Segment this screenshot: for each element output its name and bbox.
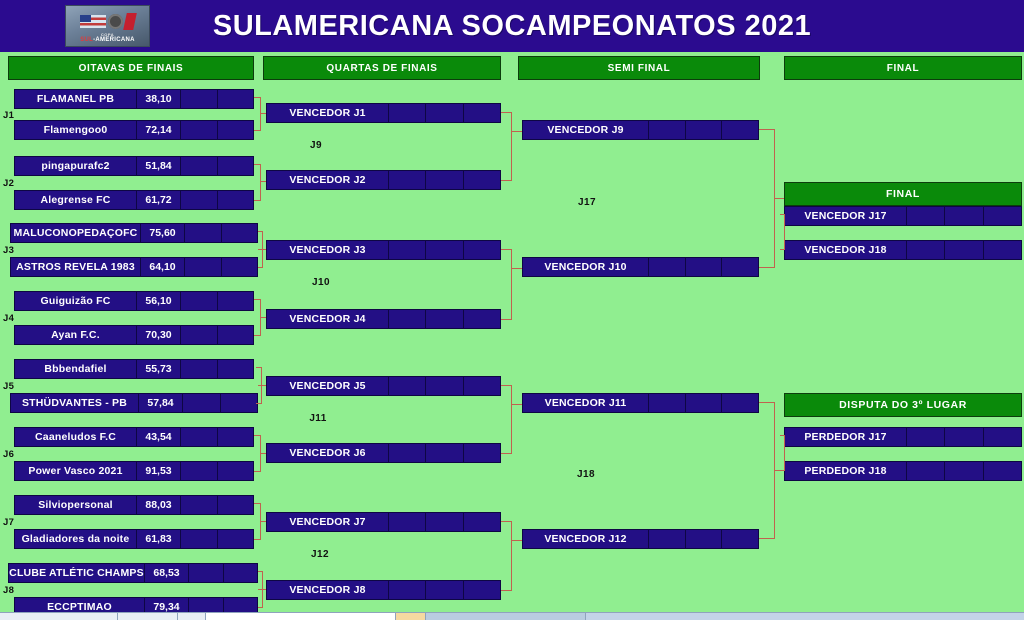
team-name: FLAMANEL PB xyxy=(15,90,137,108)
team-name: Gladiadores da noite xyxy=(15,530,137,548)
sheet-tab[interactable] xyxy=(178,613,206,620)
match-code-j12: J12 xyxy=(266,549,374,560)
empty-cell xyxy=(222,224,258,242)
empty-cell xyxy=(945,428,983,446)
team-name: Alegrense FC xyxy=(15,191,137,209)
final-team2[interactable]: VENCEDOR J18 xyxy=(784,240,1022,260)
team-name: Guiguizão FC xyxy=(15,292,137,310)
sheet-tab[interactable] xyxy=(426,613,586,620)
r16-match-j8-team1[interactable]: CLUBE ATLÉTIC CHAMPS 68,53 xyxy=(8,563,258,583)
sheet-tab-highlight[interactable] xyxy=(396,613,426,620)
r16-match-j7-team2[interactable]: Gladiadores da noite 61,83 xyxy=(14,529,254,549)
empty-cell xyxy=(984,428,1021,446)
team-name: PERDEDOR J17 xyxy=(785,428,907,446)
empty-cell xyxy=(181,292,218,310)
r16-match-j2-team1[interactable]: pingapurafc2 51,84 xyxy=(14,156,254,176)
empty-cell xyxy=(426,171,463,189)
empty-cell xyxy=(426,310,463,328)
qf-match-j12-team2[interactable]: VENCEDOR J8 xyxy=(266,580,501,600)
r16-match-j3-team1[interactable]: MALUCONOPEDAÇOFC 75,60 xyxy=(10,223,258,243)
match-code-j3: J3 xyxy=(3,245,14,256)
team-name: VENCEDOR J6 xyxy=(267,444,389,462)
empty-cell xyxy=(722,394,758,412)
team-name: VENCEDOR J8 xyxy=(267,581,389,599)
bracket-page: COPA SUL-AMERICANA SULAMERICANA SOCAMPEO… xyxy=(0,0,1024,620)
connector-j8-out xyxy=(258,589,266,590)
team-name: VENCEDOR J1 xyxy=(267,104,389,122)
empty-cell xyxy=(945,241,983,259)
stage-header-semi: SEMI FINAL xyxy=(518,56,760,80)
empty-cell xyxy=(185,224,222,242)
team-score: 70,30 xyxy=(137,326,181,344)
connector-j10 xyxy=(501,249,512,320)
empty-cell xyxy=(389,581,426,599)
team-name: VENCEDOR J5 xyxy=(267,377,389,395)
empty-cell xyxy=(686,394,723,412)
qf-match-j9-team2[interactable]: VENCEDOR J2 xyxy=(266,170,501,190)
r16-match-j4-team2[interactable]: Ayan F.C. 70,30 xyxy=(14,325,254,345)
match-code-j5: J5 xyxy=(3,381,14,392)
r16-match-j3-team2[interactable]: ASTROS REVELA 1983 64,10 xyxy=(10,257,258,277)
team-score: 61,83 xyxy=(137,530,181,548)
empty-cell xyxy=(389,241,426,259)
empty-cell xyxy=(907,207,945,225)
team-score: 38,10 xyxy=(137,90,181,108)
empty-cell xyxy=(686,121,723,139)
match-code-j11: J11 xyxy=(266,413,370,424)
r16-match-j4-team1[interactable]: Guiguizão FC 56,10 xyxy=(14,291,254,311)
empty-cell xyxy=(464,377,500,395)
r16-match-j6-team1[interactable]: Caaneludos F.C 43,54 xyxy=(14,427,254,447)
empty-cell xyxy=(426,104,463,122)
team-score: 57,84 xyxy=(139,394,183,412)
team-name: pingapurafc2 xyxy=(15,157,137,175)
qf-match-j12-team1[interactable]: VENCEDOR J7 xyxy=(266,512,501,532)
team-name: Caaneludos F.C xyxy=(15,428,137,446)
empty-cell xyxy=(181,326,218,344)
team-score: 75,60 xyxy=(141,224,185,242)
empty-cell xyxy=(218,121,254,139)
empty-cell xyxy=(389,377,426,395)
empty-cell xyxy=(722,258,758,276)
empty-cell xyxy=(181,530,218,548)
empty-cell xyxy=(464,513,500,531)
empty-cell xyxy=(221,394,258,412)
empty-cell xyxy=(649,121,686,139)
third-place-team2[interactable]: PERDEDOR J18 xyxy=(784,461,1022,481)
r16-match-j7-team1[interactable]: Silviopersonal 88,03 xyxy=(14,495,254,515)
empty-cell xyxy=(649,530,686,548)
final-team1[interactable]: VENCEDOR J17 xyxy=(784,206,1022,226)
connector-j4 xyxy=(254,299,261,336)
connector-j1 xyxy=(254,97,261,131)
team-score: 72,14 xyxy=(137,121,181,139)
team-score: 55,73 xyxy=(137,360,181,378)
sf-match-j18-team1[interactable]: VENCEDOR J11 xyxy=(522,393,759,413)
empty-cell xyxy=(464,581,500,599)
team-name: PERDEDOR J18 xyxy=(785,462,907,480)
empty-cell xyxy=(185,258,222,276)
qf-match-j9-team1[interactable]: VENCEDOR J1 xyxy=(266,103,501,123)
team-name: Flamengoo0 xyxy=(15,121,137,139)
empty-cell xyxy=(389,513,426,531)
stage-header-oitavas: OITAVAS DE FINAIS xyxy=(8,56,254,80)
empty-cell xyxy=(389,444,426,462)
empty-cell xyxy=(426,377,463,395)
empty-cell xyxy=(426,241,463,259)
empty-cell xyxy=(181,462,218,480)
empty-cell xyxy=(984,462,1021,480)
empty-cell xyxy=(649,258,686,276)
team-name: VENCEDOR J18 xyxy=(785,241,907,259)
team-name: Bbbendafiel xyxy=(15,360,137,378)
r16-match-j5-team2[interactable]: STHÜDVANTES - PB 57,84 xyxy=(10,393,258,413)
match-code-j17: J17 xyxy=(522,197,652,208)
team-score: 91,53 xyxy=(137,462,181,480)
team-score: 43,54 xyxy=(137,428,181,446)
sheet-tab[interactable] xyxy=(0,613,118,620)
team-name: VENCEDOR J9 xyxy=(523,121,649,139)
empty-cell xyxy=(945,207,983,225)
empty-cell xyxy=(389,310,426,328)
empty-cell xyxy=(181,360,218,378)
sheet-tab-strip[interactable] xyxy=(0,612,1024,620)
match-code-j10: J10 xyxy=(266,277,376,288)
team-name: VENCEDOR J17 xyxy=(785,207,907,225)
empty-cell xyxy=(389,171,426,189)
connector-j9 xyxy=(501,112,512,181)
connector-j3-out xyxy=(258,249,266,250)
empty-cell xyxy=(907,241,945,259)
empty-cell xyxy=(218,496,254,514)
qf-match-j10-team1[interactable]: VENCEDOR J3 xyxy=(266,240,501,260)
empty-cell xyxy=(464,241,500,259)
empty-cell xyxy=(222,258,258,276)
connector-final xyxy=(780,214,785,250)
sf-match-j17-team2[interactable]: VENCEDOR J10 xyxy=(522,257,759,277)
empty-cell xyxy=(181,157,218,175)
empty-cell xyxy=(686,530,723,548)
r16-match-j6-team2[interactable]: Power Vasco 2021 91,53 xyxy=(14,461,254,481)
team-score: 88,03 xyxy=(137,496,181,514)
team-name: VENCEDOR J10 xyxy=(523,258,649,276)
sheet-tab-active[interactable] xyxy=(206,613,396,620)
stage-header-quartas: QUARTAS DE FINAIS xyxy=(263,56,501,80)
match-code-j9: J9 xyxy=(266,140,366,151)
empty-cell xyxy=(218,157,254,175)
connector-j2 xyxy=(254,164,261,201)
match-code-j18: J18 xyxy=(522,469,650,480)
sheet-tab[interactable] xyxy=(118,613,178,620)
sf-match-j17-team1[interactable]: VENCEDOR J9 xyxy=(522,120,759,140)
empty-cell xyxy=(945,462,983,480)
empty-cell xyxy=(218,326,254,344)
third-place-team1[interactable]: PERDEDOR J17 xyxy=(784,427,1022,447)
empty-cell xyxy=(722,121,758,139)
empty-cell xyxy=(464,171,500,189)
empty-cell xyxy=(181,90,218,108)
qf-match-j11-team2[interactable]: VENCEDOR J6 xyxy=(266,443,501,463)
r16-match-j1-team1[interactable]: FLAMANEL PB 38,10 xyxy=(14,89,254,109)
team-name: VENCEDOR J3 xyxy=(267,241,389,259)
connector-j11 xyxy=(501,385,512,454)
connector-j18 xyxy=(759,402,775,539)
empty-cell xyxy=(686,258,723,276)
empty-cell xyxy=(181,121,218,139)
stage-header-final: FINAL xyxy=(784,56,1022,80)
match-code-j8: J8 xyxy=(3,585,14,596)
empty-cell xyxy=(464,104,500,122)
r16-match-j2-team2[interactable]: Alegrense FC 61,72 xyxy=(14,190,254,210)
team-name: MALUCONOPEDAÇOFC xyxy=(11,224,141,242)
empty-cell xyxy=(181,496,218,514)
team-name: Ayan F.C. xyxy=(15,326,137,344)
connector-j12 xyxy=(501,521,512,591)
empty-cell xyxy=(218,530,254,548)
match-code-j2: J2 xyxy=(3,178,14,189)
empty-cell xyxy=(722,530,758,548)
empty-cell xyxy=(183,394,221,412)
empty-cell xyxy=(464,310,500,328)
team-score: 64,10 xyxy=(141,258,185,276)
app-header: COPA SUL-AMERICANA SULAMERICANA SOCAMPEO… xyxy=(0,0,1024,52)
team-name: VENCEDOR J4 xyxy=(267,310,389,328)
sf-match-j18-team2[interactable]: VENCEDOR J12 xyxy=(522,529,759,549)
team-name: VENCEDOR J7 xyxy=(267,513,389,531)
empty-cell xyxy=(389,104,426,122)
qf-match-j10-team2[interactable]: VENCEDOR J4 xyxy=(266,309,501,329)
r16-match-j5-team1[interactable]: Bbbendafiel 55,73 xyxy=(14,359,254,379)
empty-cell xyxy=(984,207,1021,225)
match-code-j4: J4 xyxy=(3,313,14,324)
team-score: 61,72 xyxy=(137,191,181,209)
empty-cell xyxy=(426,581,463,599)
team-name: VENCEDOR J11 xyxy=(523,394,649,412)
team-score: 68,53 xyxy=(145,564,189,582)
match-code-j6: J6 xyxy=(3,449,14,460)
empty-cell xyxy=(218,462,254,480)
connector-j6 xyxy=(254,435,261,472)
empty-cell xyxy=(181,191,218,209)
match-code-j1: J1 xyxy=(3,110,14,121)
third-place-panel-title: DISPUTA DO 3º LUGAR xyxy=(784,393,1022,417)
empty-cell xyxy=(907,428,945,446)
empty-cell xyxy=(218,191,254,209)
page-title: SULAMERICANA SOCAMPEONATOS 2021 xyxy=(0,0,1024,52)
team-score: 56,10 xyxy=(137,292,181,310)
connector-j17 xyxy=(759,129,775,268)
team-name: VENCEDOR J12 xyxy=(523,530,649,548)
empty-cell xyxy=(224,564,258,582)
team-name: VENCEDOR J2 xyxy=(267,171,389,189)
team-name: ASTROS REVELA 1983 xyxy=(11,258,141,276)
empty-cell xyxy=(189,564,224,582)
team-score: 51,84 xyxy=(137,157,181,175)
empty-cell xyxy=(218,90,254,108)
empty-cell xyxy=(464,444,500,462)
empty-cell xyxy=(181,428,218,446)
match-code-j7: J7 xyxy=(3,517,14,528)
team-name: Silviopersonal xyxy=(15,496,137,514)
empty-cell xyxy=(907,462,945,480)
empty-cell xyxy=(426,513,463,531)
team-name: Power Vasco 2021 xyxy=(15,462,137,480)
team-name: CLUBE ATLÉTIC CHAMPS xyxy=(9,564,145,582)
empty-cell xyxy=(218,292,254,310)
empty-cell xyxy=(218,428,254,446)
final-panel-title: FINAL xyxy=(784,182,1022,206)
qf-match-j11-team1[interactable]: VENCEDOR J5 xyxy=(266,376,501,396)
empty-cell xyxy=(218,360,254,378)
empty-cell xyxy=(984,241,1021,259)
team-name: STHÜDVANTES - PB xyxy=(11,394,139,412)
connector-j7 xyxy=(254,503,261,540)
empty-cell xyxy=(426,444,463,462)
empty-cell xyxy=(649,394,686,412)
connector-third-place xyxy=(780,435,785,471)
r16-match-j1-team2[interactable]: Flamengoo0 72,14 xyxy=(14,120,254,140)
